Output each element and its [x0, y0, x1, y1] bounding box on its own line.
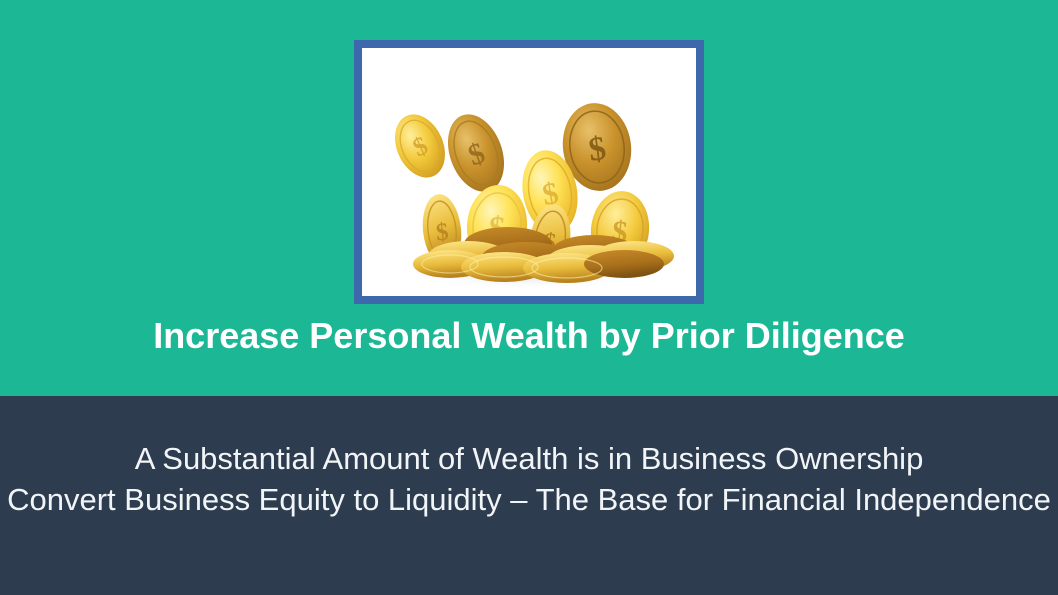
subtitle-block: A Substantial Amount of Wealth is in Bus… [0, 438, 1058, 520]
subtitle-line-1: A Substantial Amount of Wealth is in Bus… [0, 438, 1058, 479]
subtitle-line-2: Convert Business Equity to Liquidity – T… [0, 479, 1058, 520]
falling-gold-coins-illustration: $ $ $ [362, 48, 696, 296]
coins-photo: $ $ $ [362, 48, 696, 296]
image-frame: $ $ $ [354, 40, 704, 304]
page-title: Increase Personal Wealth by Prior Dilige… [0, 313, 1058, 359]
slide-canvas: $ $ $ [0, 0, 1058, 595]
